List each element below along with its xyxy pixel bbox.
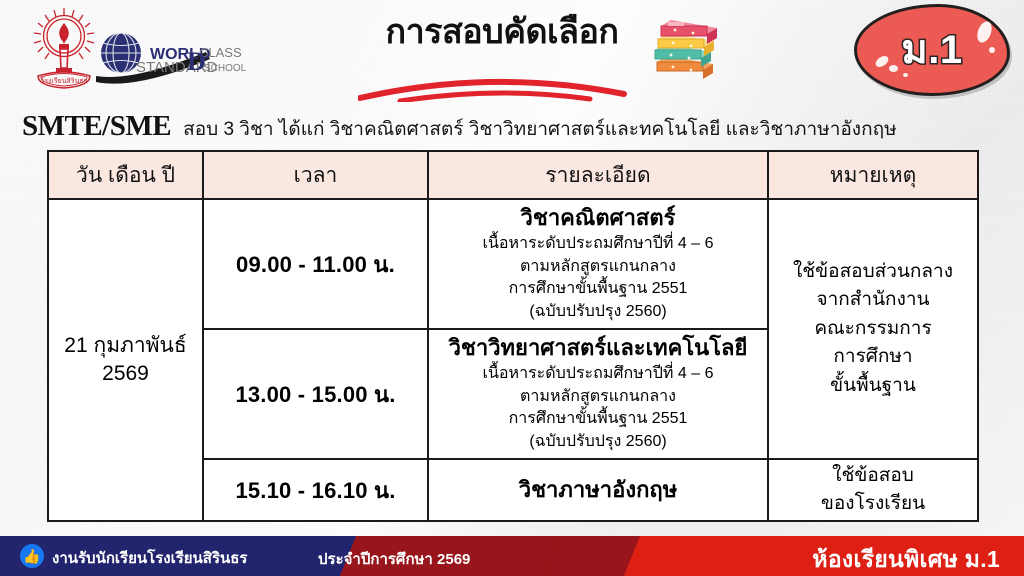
footer-mid-text: ประจำปีการศึกษา 2569: [318, 547, 470, 571]
note-line1: ใช้ข้อสอบส่วนกลาง: [769, 258, 977, 287]
page-title: การสอบคัดเลือก: [352, 14, 652, 51]
stack-of-books-icon: [645, 12, 723, 82]
detail-sub3-2: การศึกษาขั้นพื้นฐาน 2551: [429, 408, 767, 431]
facebook-thumbs-up-icon[interactable]: 👍: [20, 544, 44, 568]
badge-label: ม.1: [901, 30, 962, 70]
exam-date-line2: 2569: [49, 360, 202, 388]
footer-left-text: งานรับนักเรียนโรงเรียนสิรินธร: [52, 546, 247, 570]
column-header-date: วัน เดือน ปี: [48, 151, 203, 199]
badge-highlight-dot-3: [903, 73, 908, 77]
wcs-d-letter: D: [187, 47, 206, 76]
note-last-line2: ของโรงเรียน: [769, 490, 977, 519]
cell-time-2: 13.00 - 15.00 น.: [203, 329, 428, 459]
wcs-school-label: SCHOOL: [204, 63, 247, 74]
detail-sub2-2: ตามหลักสูตรแกนกลาง: [429, 386, 767, 409]
footer-darkred-skew: [544, 536, 640, 576]
program-label: SMTE/SME: [22, 110, 171, 143]
cell-exam-date: 21 กุมภาพันธ์ 2569: [48, 199, 203, 521]
cell-time-1: 09.00 - 11.00 น.: [203, 199, 428, 329]
detail-title-2: วิชาวิทยาศาสตร์และเทคโนโลยี: [429, 334, 767, 363]
note-line2: จากสำนักงาน: [769, 286, 977, 315]
program-description: สอบ 3 วิชา ได้แก่ วิชาคณิตศาสตร์ วิชาวิท…: [183, 114, 897, 144]
cell-detail-3: วิชาภาษาอังกฤษ: [428, 459, 768, 521]
note-line5: ขั้นพื้นฐาน: [769, 372, 977, 401]
detail-title-1: วิชาคณิตศาสตร์: [429, 204, 767, 233]
detail-sub3-1: การศึกษาขั้นพื้นฐาน 2551: [429, 278, 767, 301]
note-line4: การศึกษา: [769, 343, 977, 372]
cell-note-merged: ใช้ข้อสอบส่วนกลาง จากสำนักงาน คณะกรรมการ…: [768, 199, 978, 459]
column-header-note: หมายเหตุ: [768, 151, 978, 199]
detail-sub1-1: เนื้อหาระดับประถมศึกษาปีที่ 4 – 6: [429, 233, 767, 256]
level-badge: ม.1: [854, 4, 1010, 96]
infographic-page: โรงเรียนสิรินธร WORLD CLASS STANDARD SCH…: [0, 0, 1024, 576]
program-row: SMTE/SME สอบ 3 วิชา ได้แก่ วิชาคณิตศาสตร…: [22, 110, 1012, 144]
exam-date-line1: 21 กุมภาพันธ์: [49, 332, 202, 360]
exam-schedule-table: วัน เดือน ปี เวลา รายละเอียด หมายเหตุ 21…: [47, 150, 979, 522]
column-header-detail: รายละเอียด: [428, 151, 768, 199]
title-underline-swoosh: [358, 72, 628, 102]
table-row: 21 กุมภาพันธ์ 2569 09.00 - 11.00 น. วิชา…: [48, 199, 978, 329]
badge-highlight-dot-5: [989, 47, 995, 53]
table-header-row: วัน เดือน ปี เวลา รายละเอียด หมายเหตุ: [48, 151, 978, 199]
footer-bar: 👍 งานรับนักเรียนโรงเรียนสิรินธร ประจำปีก…: [0, 536, 1024, 576]
detail-sub2-1: ตามหลักสูตรแกนกลาง: [429, 256, 767, 279]
detail-sub4-2: (ฉบับปรับปรุง 2560): [429, 431, 767, 454]
title-block: การสอบคัดเลือก: [352, 14, 652, 51]
detail-sub1-2: เนื้อหาระดับประถมศึกษาปีที่ 4 – 6: [429, 363, 767, 386]
note-line3: คณะกรรมการ: [769, 315, 977, 344]
cell-time-3: 15.10 - 16.10 น.: [203, 459, 428, 521]
badge-highlight-dot-2: [889, 65, 898, 72]
note-last-line1: ใช้ข้อสอบ: [769, 462, 977, 491]
cell-detail-2: วิชาวิทยาศาสตร์และเทคโนโลยี เนื้อหาระดับ…: [428, 329, 768, 459]
school-logo-caption: โรงเรียนสิรินธร: [41, 76, 88, 85]
world-class-standard-school-logo-icon: WORLD CLASS STANDARD SCHOOL D: [88, 26, 248, 88]
column-header-time: เวลา: [203, 151, 428, 199]
badge-highlight-dot-1: [874, 54, 891, 69]
detail-sub4-1: (ฉบับปรับปรุง 2560): [429, 301, 767, 324]
footer-right-text: ห้องเรียนพิเศษ ม.1: [812, 542, 1000, 576]
cell-note-last: ใช้ข้อสอบ ของโรงเรียน: [768, 459, 978, 521]
cell-detail-1: วิชาคณิตศาสตร์ เนื้อหาระดับประถมศึกษาปีท…: [428, 199, 768, 329]
badge-highlight-dot-4: [975, 19, 995, 44]
